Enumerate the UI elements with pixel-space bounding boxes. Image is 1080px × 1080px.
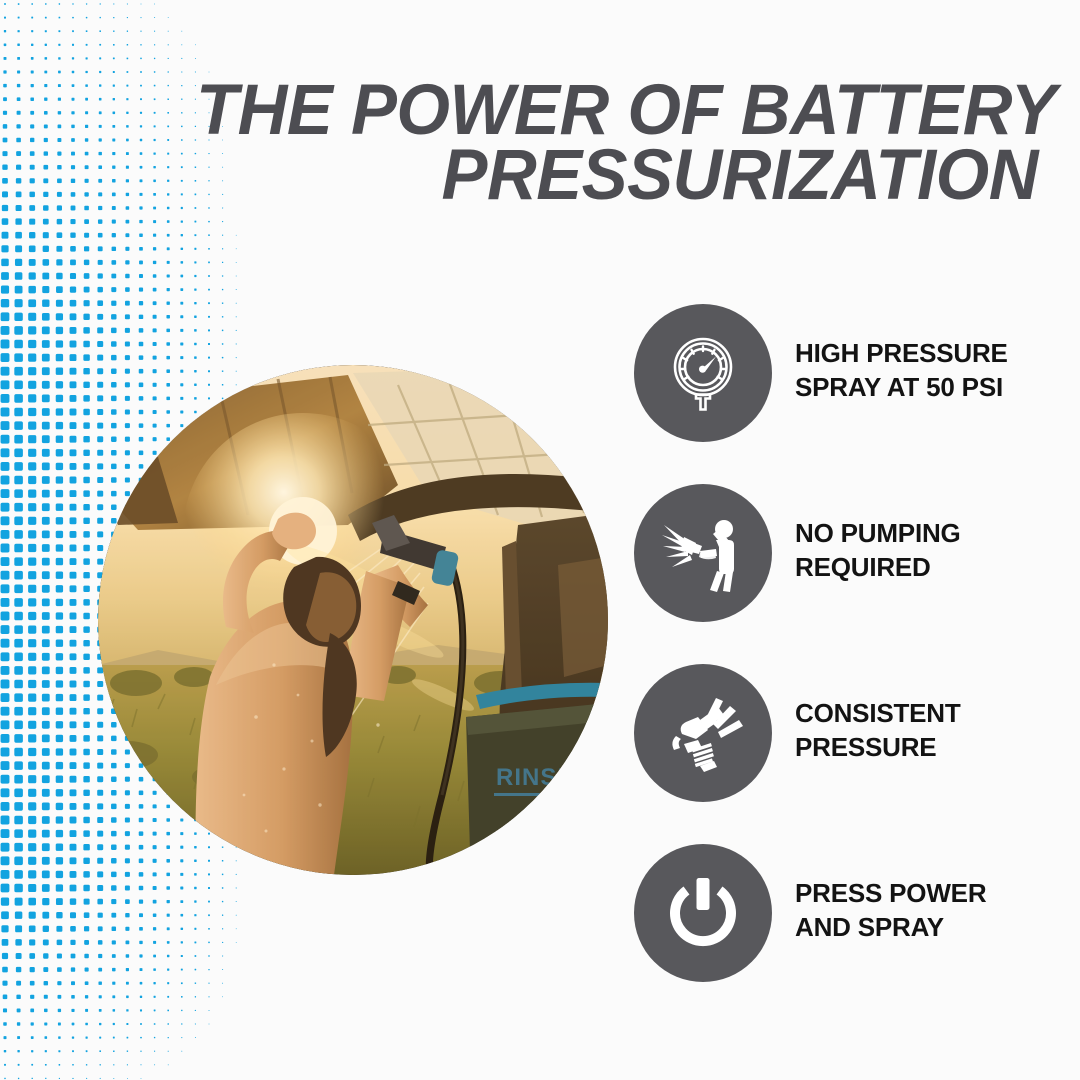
feature-label: CONSISTENT PRESSURE bbox=[795, 696, 1050, 765]
feature-line-2: PRESSURE bbox=[795, 730, 1050, 764]
feature-line-2: REQUIRED bbox=[795, 550, 1050, 584]
feature-label: NO PUMPING REQUIRED bbox=[795, 516, 1050, 585]
feature-line-2: SPRAY AT 50 PSI bbox=[795, 370, 1050, 404]
feature-line-1: CONSISTENT bbox=[795, 696, 1050, 730]
outdoor-shower-photo: RINSE bbox=[98, 365, 608, 875]
feature-label: HIGH PRESSURE SPRAY AT 50 PSI bbox=[795, 336, 1050, 405]
feature-line-1: NO PUMPING bbox=[795, 516, 1050, 550]
pressure-gauge-icon bbox=[634, 304, 772, 442]
spray-nozzle-icon bbox=[634, 664, 772, 802]
page-title: THE POWER OF BATTERY PRESSURIZATION bbox=[170, 78, 1038, 209]
power-button-icon bbox=[634, 844, 772, 982]
title-line-1: THE POWER OF BATTERY bbox=[196, 78, 1038, 143]
infographic-page: THE POWER OF BATTERY PRESSURIZATION bbox=[0, 0, 1080, 1080]
feature-line-1: HIGH PRESSURE bbox=[795, 336, 1050, 370]
feature-row-consistent-pressure: CONSISTENT PRESSURE bbox=[634, 664, 1054, 844]
feature-line-2: AND SPRAY bbox=[795, 910, 1050, 944]
feature-list: HIGH PRESSURE SPRAY AT 50 PSI bbox=[634, 304, 1054, 1024]
feature-label: PRESS POWER AND SPRAY bbox=[795, 876, 1050, 945]
feature-row-no-pumping: NO PUMPING REQUIRED bbox=[634, 484, 1054, 664]
title-line-2: PRESSURIZATION bbox=[196, 143, 1038, 208]
feature-row-press-power: PRESS POWER AND SPRAY bbox=[634, 844, 1054, 1024]
feature-line-1: PRESS POWER bbox=[795, 876, 1050, 910]
feature-row-high-pressure: HIGH PRESSURE SPRAY AT 50 PSI bbox=[634, 304, 1054, 484]
person-spraying-hose-icon bbox=[634, 484, 772, 622]
